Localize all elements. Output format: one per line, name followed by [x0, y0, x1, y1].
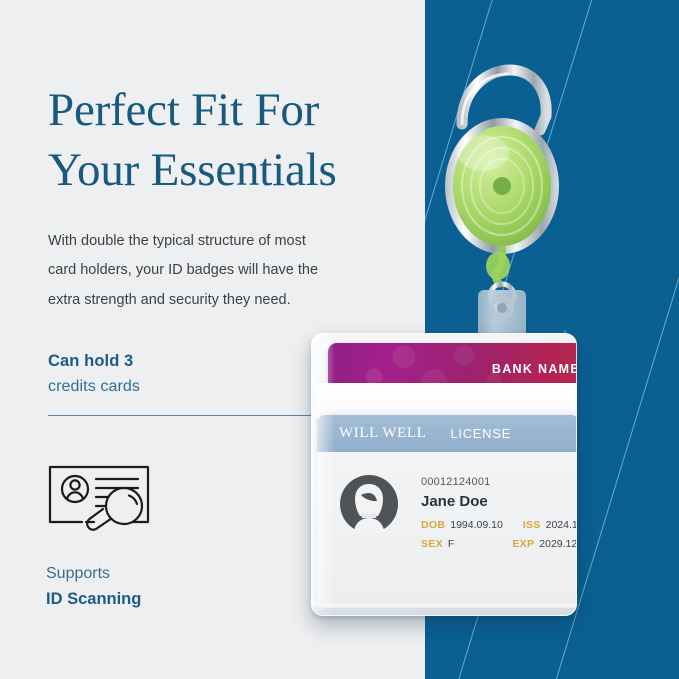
- page-title: Perfect Fit For Your Essentials: [48, 80, 388, 200]
- feature-caption-bottom: ID Scanning: [46, 590, 306, 609]
- capacity-block: Can hold 3 credits cards: [48, 352, 348, 396]
- headline-line-2: Your Essentials: [48, 140, 388, 200]
- id-scan-icon: [46, 462, 306, 543]
- feature-caption-top: Supports: [46, 565, 306, 583]
- feature-id-scanning: Supports ID Scanning: [46, 462, 306, 609]
- capacity-title: Can hold 3: [48, 352, 348, 371]
- body-copy: With double the typical structure of mos…: [48, 227, 323, 316]
- sleeve-border: [311, 333, 577, 616]
- product-marketing-image: Perfect Fit For Your Essentials With dou…: [0, 0, 679, 679]
- capacity-subtitle: credits cards: [48, 378, 348, 396]
- badge-reel: [428, 58, 574, 358]
- headline-line-1: Perfect Fit For: [48, 84, 319, 136]
- card-holder-sleeve: BANK NAME WILL WELL LICENSE: [311, 333, 577, 616]
- divider-rule: [48, 415, 318, 416]
